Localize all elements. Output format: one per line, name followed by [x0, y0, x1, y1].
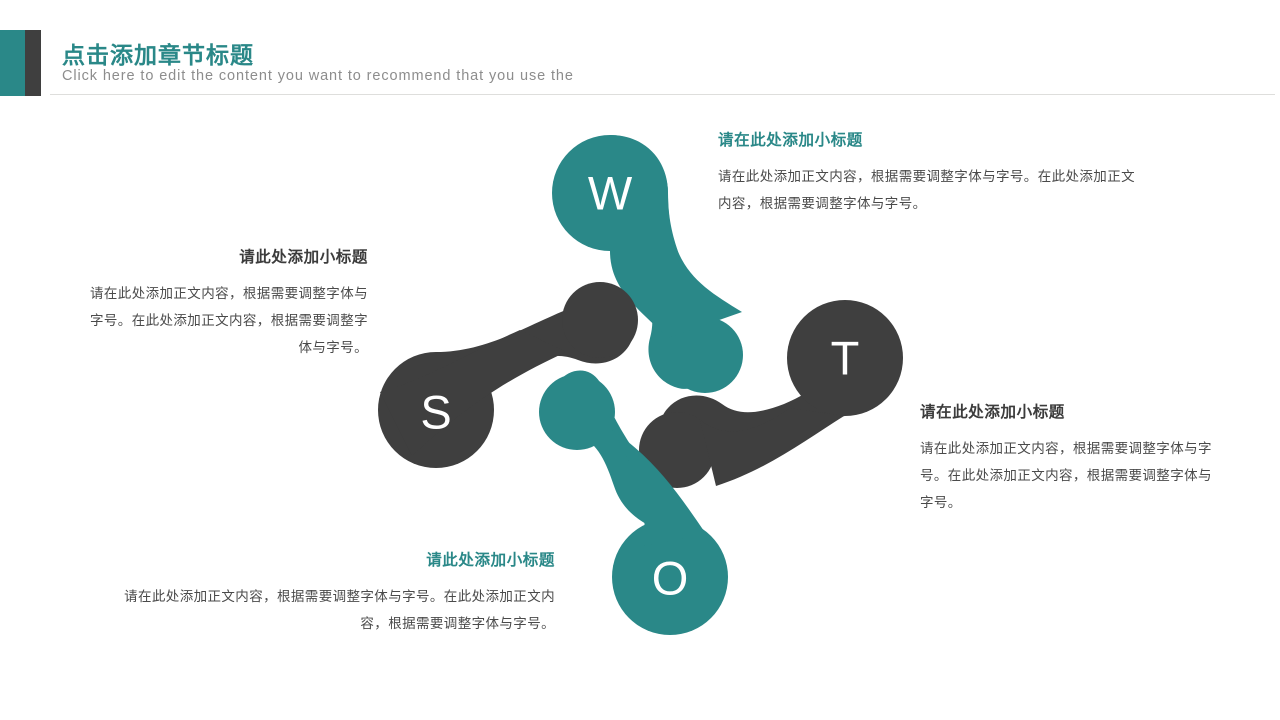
swot-body-strength[interactable]: 请在此处添加正文内容，根据需要调整字体与字号。在此处添加正文内容，根据需要调整字… [78, 280, 368, 361]
swot-heading-threat[interactable]: 请在此处添加小标题 [920, 400, 1220, 422]
swot-body-weakness[interactable]: 请在此处添加正文内容，根据需要调整字体与字号。在此处添加正文内容，根据需要调整字… [718, 163, 1148, 217]
swot-body-opportunity[interactable]: 请在此处添加正文内容，根据需要调整字体与字号。在此处添加正文内容，根据需要调整字… [120, 583, 555, 637]
swot-text-block-weakness: 请在此处添加小标题 请在此处添加正文内容，根据需要调整字体与字号。在此处添加正文… [718, 128, 1148, 217]
swot-heading-strength[interactable]: 请此处添加小标题 [78, 245, 368, 267]
swot-text-block-threat: 请在此处添加小标题 请在此处添加正文内容，根据需要调整字体与字号。在此处添加正文… [920, 400, 1220, 516]
swot-node-threat-circle[interactable] [787, 300, 903, 416]
swot-body-threat[interactable]: 请在此处添加正文内容，根据需要调整字体与字号。在此处添加正文内容，根据需要调整字… [920, 435, 1220, 516]
slide-canvas: 点击添加章节标题 Click here to edit the content … [0, 0, 1280, 720]
swot-heading-weakness[interactable]: 请在此处添加小标题 [718, 128, 1148, 150]
swot-connector-bulb-opportunity [539, 374, 615, 450]
swot-text-block-strength: 请此处添加小标题 请在此处添加正文内容，根据需要调整字体与字号。在此处添加正文内… [78, 245, 368, 361]
swot-text-block-opportunity: 请此处添加小标题 请在此处添加正文内容，根据需要调整字体与字号。在此处添加正文内… [120, 548, 555, 637]
swot-connector-bulb-strength [562, 282, 638, 358]
swot-heading-opportunity[interactable]: 请此处添加小标题 [120, 548, 555, 570]
